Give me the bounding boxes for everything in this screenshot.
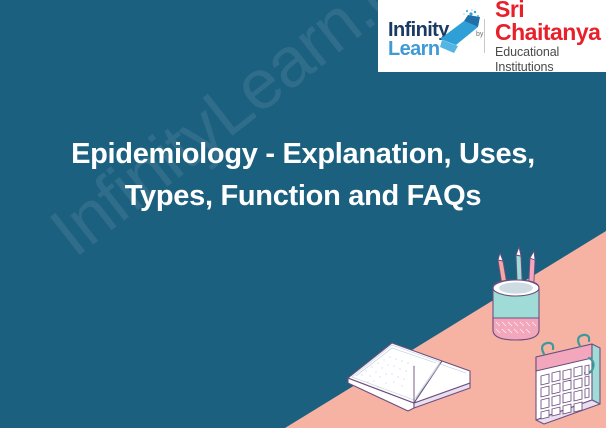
open-book-icon xyxy=(348,343,470,411)
page-title: Epidemiology - Explanation, Uses, Types,… xyxy=(28,134,578,216)
infinity-learn-logo[interactable]: Infinity Learn xyxy=(386,7,482,65)
desk-illustration xyxy=(330,230,606,428)
sri-chaitanya-title: Sri Chaitanya xyxy=(495,0,606,44)
desk-calendar-icon xyxy=(536,335,600,424)
sri-chaitanya-logo[interactable]: Sri Chaitanya Educational Institutions xyxy=(489,0,606,74)
banner-canvas: InfinityLearn.com Infinity Learn by Sr xyxy=(0,0,606,428)
pencil-cup-icon xyxy=(493,247,539,340)
logo-panel[interactable]: Infinity Learn by Sri Chaitanya Educatio… xyxy=(378,0,606,72)
sri-chaitanya-subtitle: Educational Institutions xyxy=(495,45,606,74)
by-label: by xyxy=(476,31,483,38)
